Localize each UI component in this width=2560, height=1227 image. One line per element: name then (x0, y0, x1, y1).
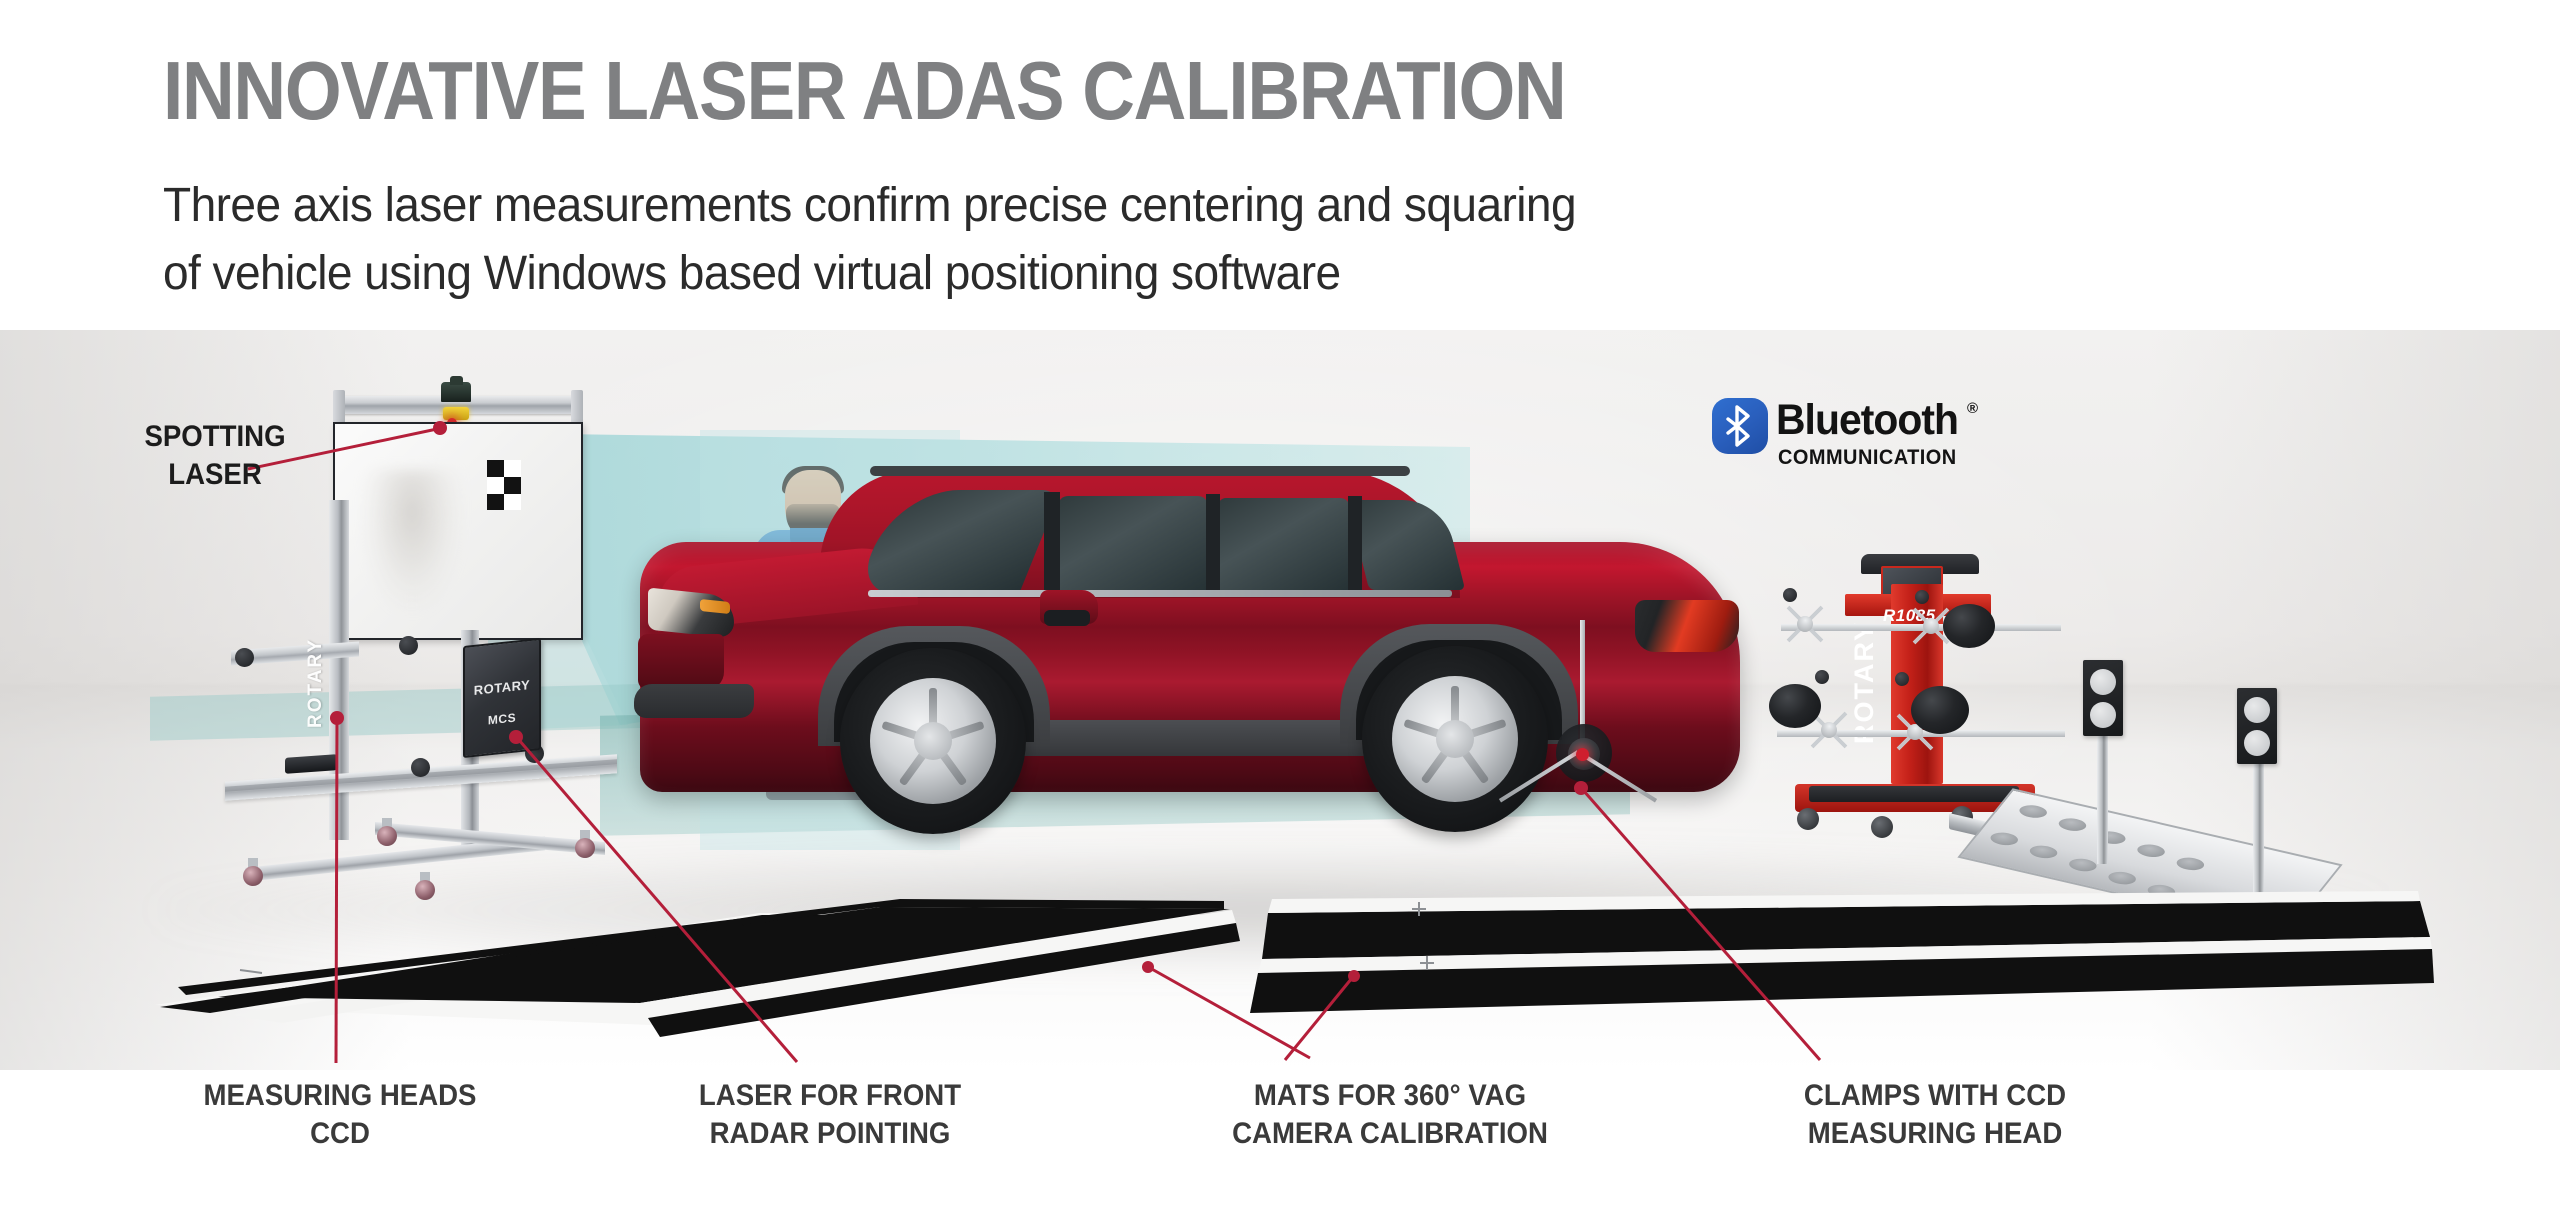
mcs-panel-model: MCS (465, 708, 539, 730)
bluetooth-icon (1712, 398, 1768, 454)
calibration-floor-mat (0, 885, 2560, 1085)
spotting-laser-head (441, 382, 471, 402)
callout-measuring-heads-ccd: MEASURING HEADS CCD (138, 1077, 543, 1153)
wheel-spoke (933, 721, 985, 745)
cart-sensor-pod-upper (1943, 604, 1995, 648)
camera-target-right (2237, 688, 2277, 764)
front-grille (638, 634, 724, 690)
callout-laser-front-radar: LASER FOR FRONT RADAR POINTING (637, 1077, 1023, 1153)
wheel-spoke (1421, 737, 1458, 784)
cart-knob-2 (1915, 590, 1929, 604)
cart-caster-2 (1871, 816, 1893, 838)
rig-caster-4 (573, 830, 597, 858)
cart-clamp-upper-left (1771, 590, 1839, 658)
roof-rail (870, 466, 1410, 476)
crossbar-right-end (571, 390, 583, 424)
rail-knob-left (235, 648, 254, 667)
wheel-spoke (1403, 719, 1455, 743)
front-wheel-rim (870, 678, 996, 804)
front-wheel (840, 648, 1026, 834)
bluetooth-wordmark: Bluetooth (1776, 396, 1958, 445)
target-post-left (2097, 732, 2108, 864)
cart-caster-1 (1797, 808, 1819, 830)
mcs-panel-brand: ROTARY (465, 676, 539, 699)
spotting-laser-emitter (443, 407, 469, 420)
page-title: INNOVATIVE LASER ADAS CALIBRATION (163, 48, 1565, 134)
c-pillar (1206, 494, 1220, 596)
side-mirror (1040, 590, 1098, 624)
d-pillar (1348, 496, 1362, 594)
adas-calibration-infographic: INNOVATIVE LASER ADAS CALIBRATION Three … (0, 0, 2560, 1227)
front-door-window (1058, 496, 1208, 596)
rear-door-window (1218, 498, 1350, 594)
cart-sensor-pod-lower-right (1911, 686, 1969, 734)
wheel-spoke (881, 721, 933, 745)
rig-caster-1 (241, 858, 265, 886)
bluetooth-communication-badge: Bluetooth ® COMMUNICATION (1712, 396, 2012, 488)
front-bumper (634, 684, 754, 718)
cart-knob-1 (1783, 588, 1797, 602)
rig-caster-3 (375, 818, 399, 846)
wheel-spoke (1451, 686, 1459, 738)
board-reflection (363, 470, 461, 610)
callout-mats-vag-camera: MATS FOR 360° VAG CAMERA CALIBRATION (1160, 1077, 1620, 1153)
wheel-spoke (929, 688, 937, 740)
clamp-laser-point (1576, 748, 1589, 761)
rail-knob-right (411, 758, 430, 777)
camera-target-left (2083, 660, 2123, 736)
wheel-clamp-ccd (1480, 620, 1690, 870)
bluetooth-subtitle: COMMUNICATION (1778, 446, 1957, 470)
rail-knob-mid (399, 636, 418, 655)
rotary-brand-vertical: ROTARY (305, 638, 327, 728)
callout-clamps-ccd: CLAMPS WITH CCD MEASURING HEAD (1719, 1077, 2151, 1153)
registered-trademark-icon: ® (1967, 400, 1978, 417)
calibration-target-pattern (487, 460, 521, 510)
page-subtitle: Three axis laser measurements confirm pr… (163, 172, 1576, 308)
mcs-control-panel: ROTARY MCS (463, 638, 541, 758)
cart-sensor-pod-lower-left (1769, 684, 1821, 728)
callout-spotting-laser: SPOTTING LASER (91, 418, 339, 495)
wheel-spoke (930, 739, 967, 786)
cart-knob-4 (1895, 672, 1909, 686)
beltline-chrome-trim (868, 590, 1452, 597)
b-pillar (1044, 492, 1060, 598)
wheel-spoke (899, 739, 936, 786)
cart-knob-3 (1815, 670, 1829, 684)
calibration-target-board (333, 422, 583, 640)
